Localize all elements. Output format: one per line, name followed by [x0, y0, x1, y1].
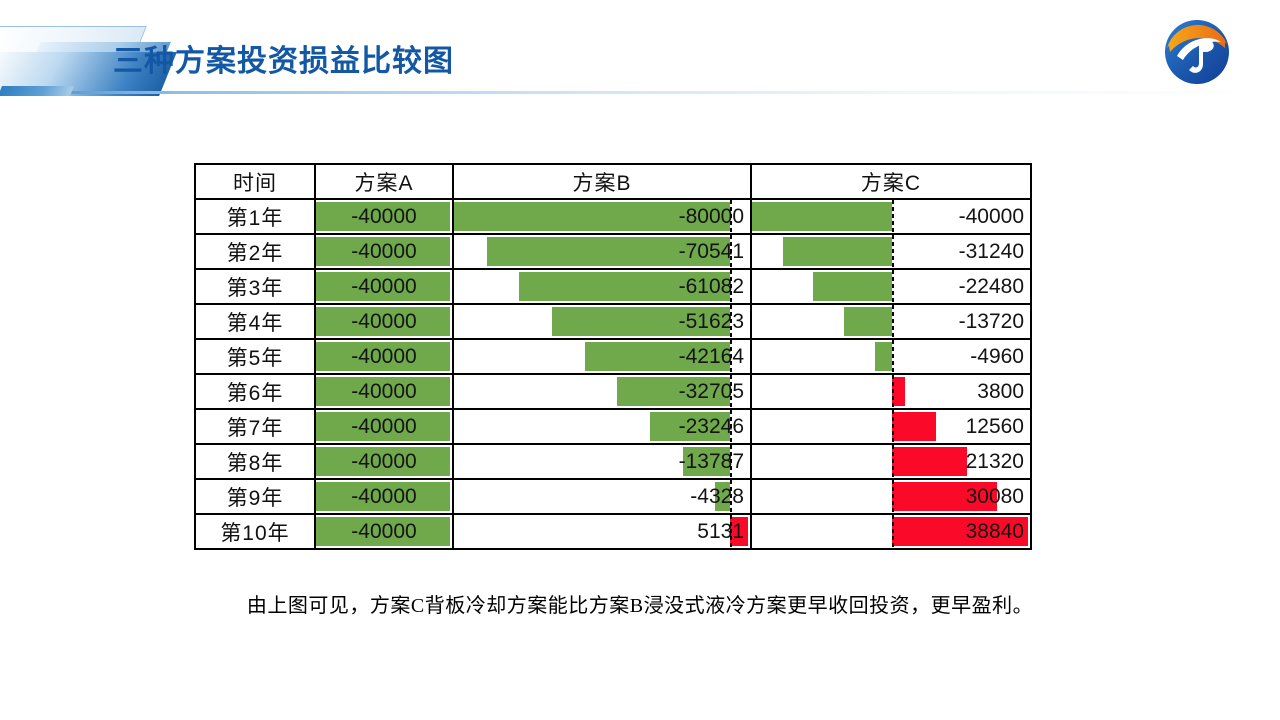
- header-divider-cap: [0, 86, 74, 96]
- column-header-time: 时间: [195, 164, 315, 199]
- column-header-plan-b: 方案B: [453, 164, 751, 199]
- cell-plan-c: -40000: [751, 199, 1031, 234]
- cell-plan-b: 5131: [453, 514, 751, 549]
- cell-plan-c: -13720: [751, 304, 1031, 339]
- cell-value: -70541: [454, 236, 750, 267]
- cell-value: -40000: [316, 481, 452, 512]
- cell-plan-c: 3800: [751, 374, 1031, 409]
- cell-value: -40000: [316, 201, 452, 232]
- page-title: 三种方案投资损益比较图: [113, 36, 454, 80]
- cell-time: 第9年: [195, 479, 315, 514]
- cell-plan-c: -4960: [751, 339, 1031, 374]
- zero-axis-line: [892, 235, 894, 268]
- cell-time: 第7年: [195, 409, 315, 444]
- cell-plan-a: -40000: [315, 444, 453, 479]
- table-row: 第10年-40000513138840: [195, 514, 1031, 549]
- cell-plan-a: -40000: [315, 409, 453, 444]
- table-body: 第1年-40000-80000-40000第2年-40000-70541-312…: [195, 199, 1031, 549]
- cell-value: -40000: [316, 236, 452, 267]
- cell-time: 第3年: [195, 269, 315, 304]
- cell-value: -4960: [752, 341, 1030, 372]
- zero-axis-line: [730, 410, 732, 443]
- cell-value: -40000: [316, 306, 452, 337]
- table-row: 第5年-40000-42164-4960: [195, 339, 1031, 374]
- cell-plan-b: -51623: [453, 304, 751, 339]
- cell-plan-a: -40000: [315, 514, 453, 549]
- table-row: 第2年-40000-70541-31240: [195, 234, 1031, 269]
- cell-value: -40000: [316, 376, 452, 407]
- cell-value: -80000: [454, 201, 750, 232]
- cell-value: 12560: [752, 411, 1030, 442]
- cell-value: -42164: [454, 341, 750, 372]
- table-row: 第3年-40000-61082-22480: [195, 269, 1031, 304]
- zero-axis-line: [892, 515, 894, 548]
- cell-value: 5131: [454, 516, 750, 547]
- zero-axis-line: [892, 410, 894, 443]
- cell-plan-c: 12560: [751, 409, 1031, 444]
- zero-axis-line: [730, 445, 732, 478]
- zero-axis-line: [730, 480, 732, 513]
- cell-value: -40000: [316, 516, 452, 547]
- cell-time: 第2年: [195, 234, 315, 269]
- table-header-row: 时间 方案A 方案B 方案C: [195, 164, 1031, 199]
- cell-plan-b: -32705: [453, 374, 751, 409]
- cell-plan-c: -22480: [751, 269, 1031, 304]
- cell-plan-a: -40000: [315, 339, 453, 374]
- cell-plan-a: -40000: [315, 304, 453, 339]
- cell-plan-b: -4328: [453, 479, 751, 514]
- table-row: 第7年-40000-2324612560: [195, 409, 1031, 444]
- cell-plan-b: -70541: [453, 234, 751, 269]
- cell-plan-a: -40000: [315, 199, 453, 234]
- cell-value: -51623: [454, 306, 750, 337]
- zero-axis-line: [892, 340, 894, 373]
- cell-time: 第5年: [195, 339, 315, 374]
- cell-value: -40000: [316, 271, 452, 302]
- cell-value: 3800: [752, 376, 1030, 407]
- cell-plan-b: -13787: [453, 444, 751, 479]
- cell-plan-a: -40000: [315, 269, 453, 304]
- cell-value: -40000: [316, 411, 452, 442]
- cell-value: -4328: [454, 481, 750, 512]
- cell-time: 第4年: [195, 304, 315, 339]
- cell-value: -61082: [454, 271, 750, 302]
- zero-axis-line: [892, 445, 894, 478]
- zero-axis-line: [730, 235, 732, 268]
- zero-axis-line: [730, 515, 732, 548]
- cell-time: 第6年: [195, 374, 315, 409]
- cell-plan-c: 30080: [751, 479, 1031, 514]
- cell-plan-c: 21320: [751, 444, 1031, 479]
- cell-time: 第8年: [195, 444, 315, 479]
- cell-value: -40000: [316, 446, 452, 477]
- cell-plan-c: 38840: [751, 514, 1031, 549]
- table-row: 第8年-40000-1378721320: [195, 444, 1031, 479]
- table-row: 第6年-40000-327053800: [195, 374, 1031, 409]
- cell-value: -13720: [752, 306, 1030, 337]
- slide-header: 三种方案投资损益比较图: [0, 0, 1280, 100]
- cell-value: -40000: [752, 201, 1030, 232]
- table-row: 第1年-40000-80000-40000: [195, 199, 1031, 234]
- cell-plan-c: -31240: [751, 234, 1031, 269]
- column-header-plan-a: 方案A: [315, 164, 453, 199]
- table-row: 第4年-40000-51623-13720: [195, 304, 1031, 339]
- cell-plan-a: -40000: [315, 479, 453, 514]
- cell-value: -22480: [752, 271, 1030, 302]
- cell-value: -31240: [752, 236, 1030, 267]
- column-header-plan-c: 方案C: [751, 164, 1031, 199]
- zero-axis-line: [730, 200, 732, 233]
- cell-plan-a: -40000: [315, 374, 453, 409]
- zero-axis-line: [892, 200, 894, 233]
- zero-axis-line: [892, 480, 894, 513]
- zero-axis-line: [730, 305, 732, 338]
- zero-axis-line: [730, 340, 732, 373]
- company-logo: [1163, 18, 1231, 86]
- zero-axis-line: [730, 270, 732, 303]
- investment-comparison-table: 时间 方案A 方案B 方案C 第1年-40000-80000-40000第2年-…: [194, 163, 1032, 550]
- cell-value: -32705: [454, 376, 750, 407]
- zero-axis-line: [892, 305, 894, 338]
- cell-plan-b: -23246: [453, 409, 751, 444]
- cell-plan-b: -61082: [453, 269, 751, 304]
- cell-value: 30080: [752, 481, 1030, 512]
- zero-axis-line: [892, 375, 894, 408]
- cell-value: -13787: [454, 446, 750, 477]
- zero-axis-line: [892, 270, 894, 303]
- cell-time: 第1年: [195, 199, 315, 234]
- cell-value: -23246: [454, 411, 750, 442]
- cell-value: 21320: [752, 446, 1030, 477]
- cell-plan-a: -40000: [315, 234, 453, 269]
- caption-text: 由上图可见，方案C背板冷却方案能比方案B浸没式液冷方案更早收回投资，更早盈利。: [0, 589, 1280, 618]
- cell-value: -40000: [316, 341, 452, 372]
- zero-axis-line: [730, 375, 732, 408]
- cell-time: 第10年: [195, 514, 315, 549]
- cell-plan-b: -42164: [453, 339, 751, 374]
- header-divider: [0, 91, 1280, 94]
- cell-value: 38840: [752, 516, 1030, 547]
- cell-plan-b: -80000: [453, 199, 751, 234]
- table-row: 第9年-40000-432830080: [195, 479, 1031, 514]
